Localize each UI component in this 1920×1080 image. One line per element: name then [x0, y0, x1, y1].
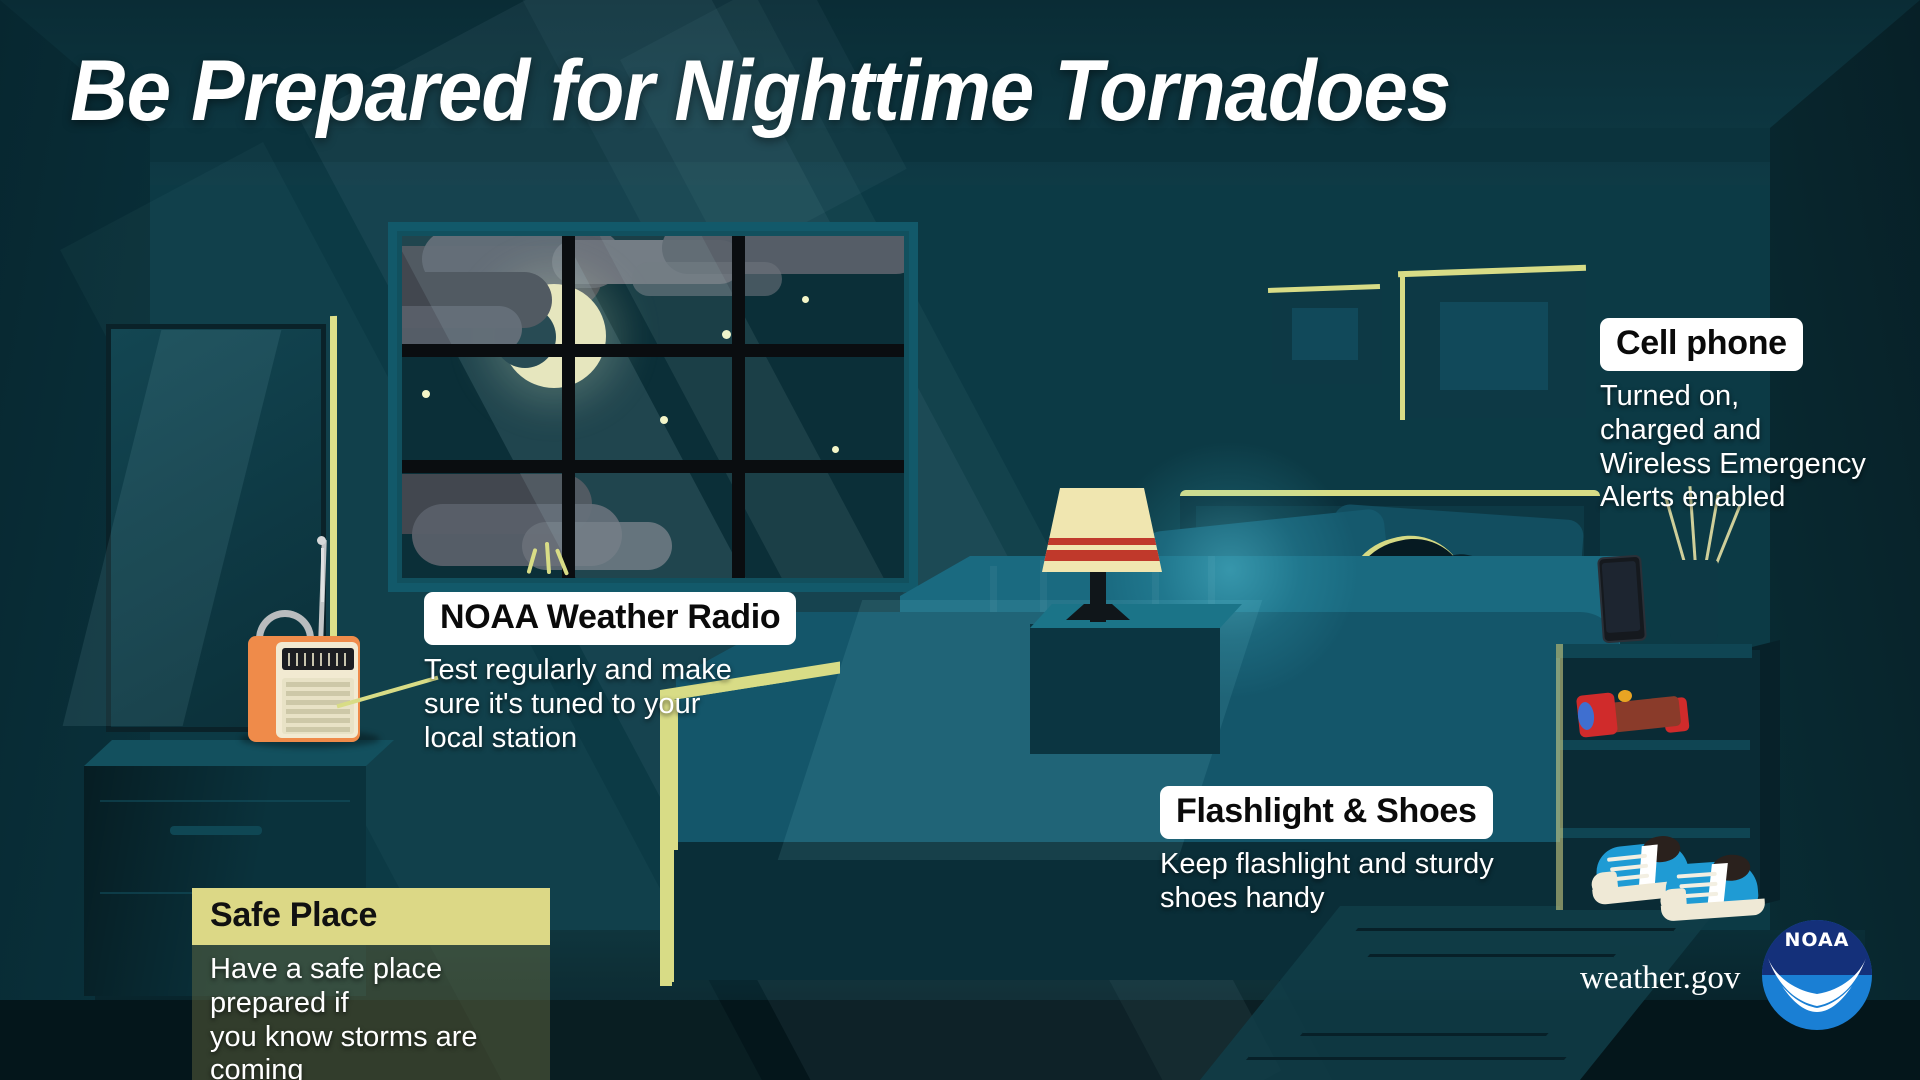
- weather-gov-label: weather.gov: [1580, 960, 1740, 997]
- lamp-shade: [1042, 488, 1162, 572]
- star-4: [802, 296, 809, 303]
- infographic-poster: Be Prepared for Nighttime Tornadoes NOAA…: [0, 0, 1920, 1080]
- callout-body-flashlight-and-shoes: Keep flashlight and sturdy shoes handy: [1160, 848, 1540, 916]
- page-title: Be Prepared for Nighttime Tornadoes: [70, 42, 1450, 141]
- wall-art-large-gold-side: [1400, 272, 1405, 420]
- noaa-logo-text: NOAA: [1762, 929, 1872, 951]
- noaa-logo: NOAA: [1762, 920, 1872, 1030]
- nightstand-right-body: [1030, 624, 1220, 754]
- window-mullion-v2: [732, 236, 745, 578]
- radio-tuning-dial: [282, 648, 354, 670]
- shelf-level-1: [1560, 740, 1750, 750]
- nightstand-right-top: [1030, 604, 1242, 628]
- callout-body-noaa-weather-radio: Test regularly and make sure it's tuned …: [424, 654, 824, 756]
- shelf-top: [1556, 644, 1752, 658]
- wall-art-small-inner: [1292, 308, 1358, 360]
- window-mullion-h1: [402, 344, 904, 357]
- window-mullion-v1: [562, 236, 575, 578]
- noaa-seabird-icon: [1768, 956, 1866, 1014]
- star-5: [832, 446, 839, 453]
- cell-phone-screen: [1602, 561, 1641, 633]
- callout-flashlight-and-shoes: Flashlight & Shoes Keep flashlight and s…: [1160, 786, 1540, 916]
- callout-title-noaa-weather-radio: NOAA Weather Radio: [424, 592, 796, 645]
- callout-body-cell-phone: Turned on, charged and Wireless Emergenc…: [1600, 380, 1900, 516]
- callout-title-flashlight-and-shoes: Flashlight & Shoes: [1160, 786, 1493, 839]
- window-mullion-h2: [402, 460, 904, 473]
- vase: [1670, 560, 1718, 644]
- callout-safe-place: Safe Place Have a safe place prepared if…: [192, 888, 592, 1080]
- window-glass: [402, 236, 904, 578]
- lamp-neck: [1090, 570, 1106, 622]
- shelf-gold-edge: [1556, 644, 1563, 910]
- callout-body-safe-place: Have a safe place prepared if you know s…: [210, 953, 532, 1080]
- nightstand-left-handle: [170, 826, 262, 835]
- callout-panel-safe-place: Have a safe place prepared if you know s…: [192, 945, 550, 1080]
- callout-cell-phone: Cell phone Turned on, charged and Wirele…: [1600, 318, 1900, 515]
- radio-antenna-tip: [317, 536, 326, 545]
- callout-title-cell-phone: Cell phone: [1600, 318, 1803, 371]
- right-wall: [1770, 0, 1920, 1080]
- wall-art-large-inner: [1440, 302, 1548, 390]
- nightstand-left-drawer-line-1: [100, 800, 350, 802]
- radio-antenna-upper: [321, 548, 324, 602]
- callout-title-safe-place: Safe Place: [192, 888, 550, 945]
- star-2: [422, 390, 430, 398]
- callout-noaa-weather-radio: NOAA Weather Radio Test regularly and ma…: [424, 592, 824, 755]
